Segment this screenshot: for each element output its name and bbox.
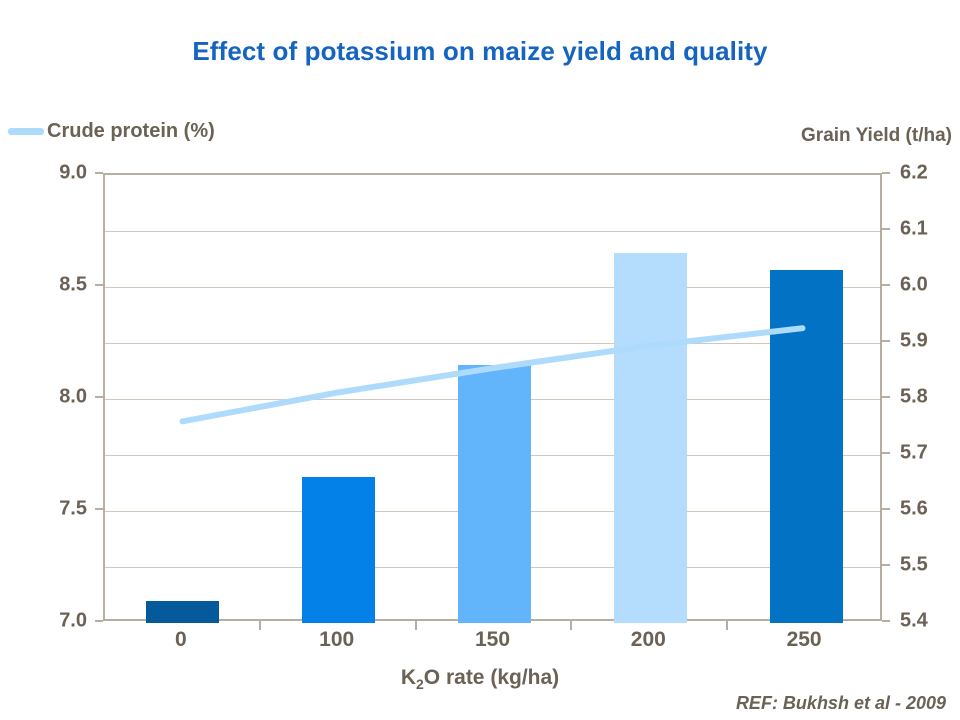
left-axis-tick-label: 7.0 [17, 610, 87, 633]
chart-legend: Crude protein (%) [8, 120, 215, 143]
x-axis-tick-label: 100 [319, 628, 354, 652]
right-axis-tick-mark [882, 340, 890, 342]
x-axis-title-subscript: 2 [416, 676, 424, 692]
left-axis-tick-mark [95, 396, 103, 398]
gridline [105, 287, 880, 288]
reference-citation: REF: Bukhsh et al - 2009 [736, 693, 946, 714]
right-axis-tick-label: 6.2 [900, 162, 960, 185]
chart-container: Effect of potassium on maize yield and q… [0, 0, 960, 720]
right-axis-tick-label: 5.8 [900, 386, 960, 409]
left-axis-tick-label: 8.0 [17, 386, 87, 409]
left-axis-tick-mark [95, 172, 103, 174]
x-axis-tick-label: 150 [475, 628, 510, 652]
left-axis-tick-mark [95, 284, 103, 286]
x-axis-tick-mark [726, 621, 728, 630]
right-axis-tick-label: 6.1 [900, 218, 960, 241]
right-axis-tick-label: 5.7 [900, 442, 960, 465]
x-axis-tick-mark [259, 621, 261, 630]
right-axis-tick-mark [882, 228, 890, 230]
bar-200 [614, 253, 687, 623]
x-axis-tick-mark [570, 621, 572, 630]
right-axis-tick-mark [882, 284, 890, 286]
bar-100 [302, 477, 375, 623]
right-axis-tick-mark [882, 564, 890, 566]
gridline [105, 343, 880, 344]
right-axis-tick-mark [882, 396, 890, 398]
right-axis-tick-mark [882, 620, 890, 622]
right-axis-tick-mark [882, 508, 890, 510]
left-axis-tick-label: 9.0 [17, 162, 87, 185]
left-axis-tick-label: 8.5 [17, 274, 87, 297]
x-axis-tick-mark [415, 621, 417, 630]
right-axis-tick-label: 5.9 [900, 330, 960, 353]
left-axis-tick-label: 7.5 [17, 498, 87, 521]
right-axis-tick-label: 5.6 [900, 498, 960, 521]
bar-150 [458, 365, 531, 623]
chart-title: Effect of potassium on maize yield and q… [0, 36, 960, 67]
legend-label-crude-protein: Crude protein (%) [47, 120, 215, 143]
x-axis-tick-label: 0 [175, 628, 187, 652]
gridline [105, 231, 880, 232]
right-axis-tick-label: 6.0 [900, 274, 960, 297]
x-axis-tick-label: 250 [787, 628, 822, 652]
plot-area [103, 173, 882, 621]
x-axis-title-suffix: O rate (kg/ha) [424, 666, 559, 689]
right-axis-tick-label: 5.5 [900, 554, 960, 577]
legend-swatch-crude-protein [8, 128, 44, 135]
bar-250 [770, 270, 843, 623]
right-axis-tick-mark [882, 452, 890, 454]
left-axis-tick-mark [95, 620, 103, 622]
x-axis-title: K2O rate (kg/ha) [0, 666, 960, 692]
left-axis-tick-mark [95, 508, 103, 510]
right-axis-tick-mark [882, 172, 890, 174]
x-axis-tick-label: 200 [631, 628, 666, 652]
bar-0 [146, 601, 219, 623]
right-axis-tick-label: 5.4 [900, 610, 960, 633]
x-axis-title-prefix: K [401, 666, 416, 689]
right-axis-title: Grain Yield (t/ha) [801, 125, 952, 147]
